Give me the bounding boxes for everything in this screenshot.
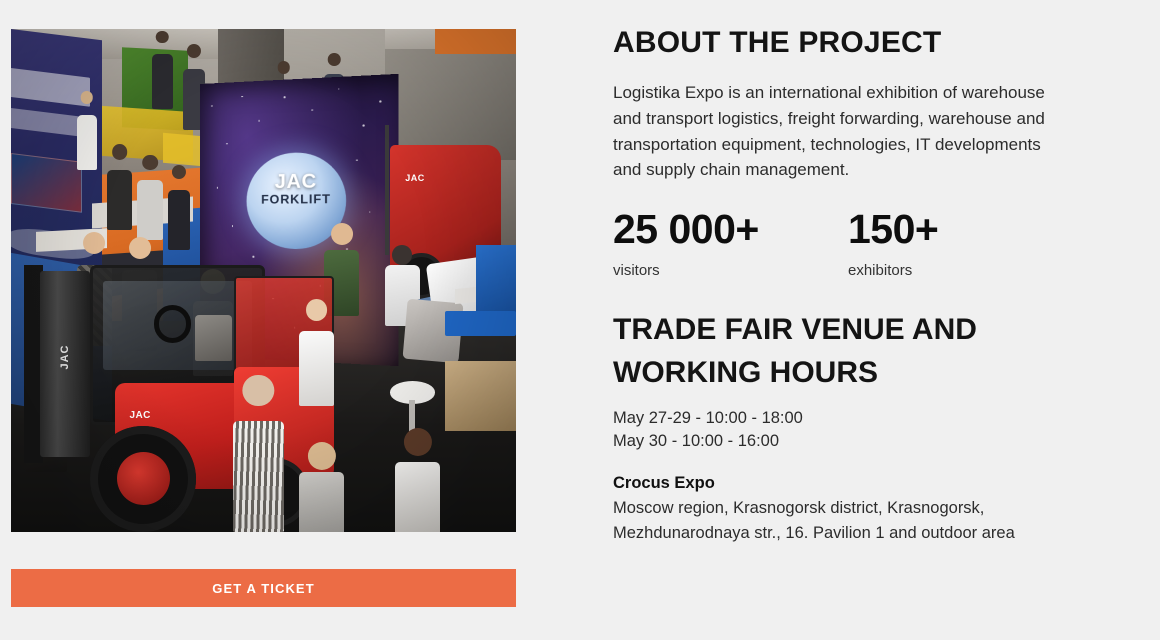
- content-column: ABOUT THE PROJECT Logistika Expo is an i…: [613, 28, 1153, 546]
- about-project-page: JAC FORKLIFT JAC: [0, 0, 1160, 640]
- photo-scene: JAC FORKLIFT JAC: [11, 29, 516, 532]
- banner-brand-name: JAC: [262, 172, 332, 194]
- stat-visitors-label: visitors: [613, 262, 848, 279]
- blue-lift-rail: [445, 311, 516, 336]
- booth-banner-strip-2: [11, 108, 78, 136]
- stat-exhibitors-number: 150+: [848, 209, 938, 250]
- background-person: [77, 115, 97, 170]
- background-person: [107, 170, 132, 230]
- venue-address-line-1: Moscow region, Krasnogorsk district, Kra…: [613, 497, 1153, 521]
- get-a-ticket-button[interactable]: GET A TICKET: [11, 569, 516, 607]
- background-person: [168, 190, 191, 250]
- background-forklift-badge: JAC: [405, 173, 425, 183]
- visitor-grey-top: [299, 472, 344, 532]
- stat-exhibitors-label: exhibitors: [848, 262, 938, 279]
- round-stool: [390, 381, 435, 404]
- right-workbench: [445, 361, 516, 431]
- visitor-light-shirt: [299, 331, 334, 406]
- venue-address-block: Crocus Expo Moscow region, Krasnogorsk d…: [613, 472, 1153, 546]
- stat-visitors: 25 000+ visitors: [613, 209, 848, 279]
- steering-wheel: [154, 305, 191, 342]
- venue-name: Crocus Expo: [613, 472, 1153, 496]
- working-hours-line: May 27-29 - 10:00 - 18:00: [613, 407, 1153, 431]
- forklift-seat: [195, 315, 232, 361]
- booth-display-screen: [11, 153, 82, 212]
- venue-address-line-2: Mezhdunarodnaya str., 16. Pavilion 1 and…: [613, 522, 1153, 546]
- blue-lift-frame: [476, 245, 516, 315]
- visitor-with-notebook: [395, 462, 440, 532]
- right-exhibition-stand: [385, 49, 516, 160]
- forklift-brand-badge: JAC: [130, 410, 151, 421]
- about-project-title: ABOUT THE PROJECT: [613, 28, 1153, 58]
- media-column: JAC FORKLIFT JAC: [11, 29, 516, 532]
- forklift-mast: [40, 271, 90, 458]
- background-mast: [385, 125, 389, 256]
- foreground-jac-forklift: JAC: [21, 265, 334, 532]
- stat-exhibitors: 150+ exhibitors: [848, 209, 938, 279]
- banner-brand-text: JAC FORKLIFT: [262, 172, 332, 206]
- statistics-row: 25 000+ visitors 150+ exhibitors: [613, 209, 1153, 279]
- stat-visitors-number: 25 000+: [613, 209, 848, 250]
- exhibition-photo: JAC FORKLIFT JAC: [11, 29, 516, 532]
- visitor-striped-shirt: [233, 421, 284, 532]
- working-hours-line: May 30 - 10:00 - 16:00: [613, 430, 1153, 454]
- background-person: [137, 180, 162, 240]
- about-project-body: Logistika Expo is an international exhib…: [613, 80, 1063, 183]
- banner-product-name: FORKLIFT: [262, 193, 332, 207]
- background-person: [152, 54, 172, 109]
- forklift-front-tire: [90, 426, 196, 532]
- booth-banner-strip: [11, 68, 90, 106]
- orange-top-banner: [435, 29, 516, 54]
- venue-title: TRADE FAIR VENUE AND WORKING HOURS: [613, 309, 1073, 394]
- working-hours: May 27-29 - 10:00 - 18:00 May 30 - 10:00…: [613, 407, 1153, 455]
